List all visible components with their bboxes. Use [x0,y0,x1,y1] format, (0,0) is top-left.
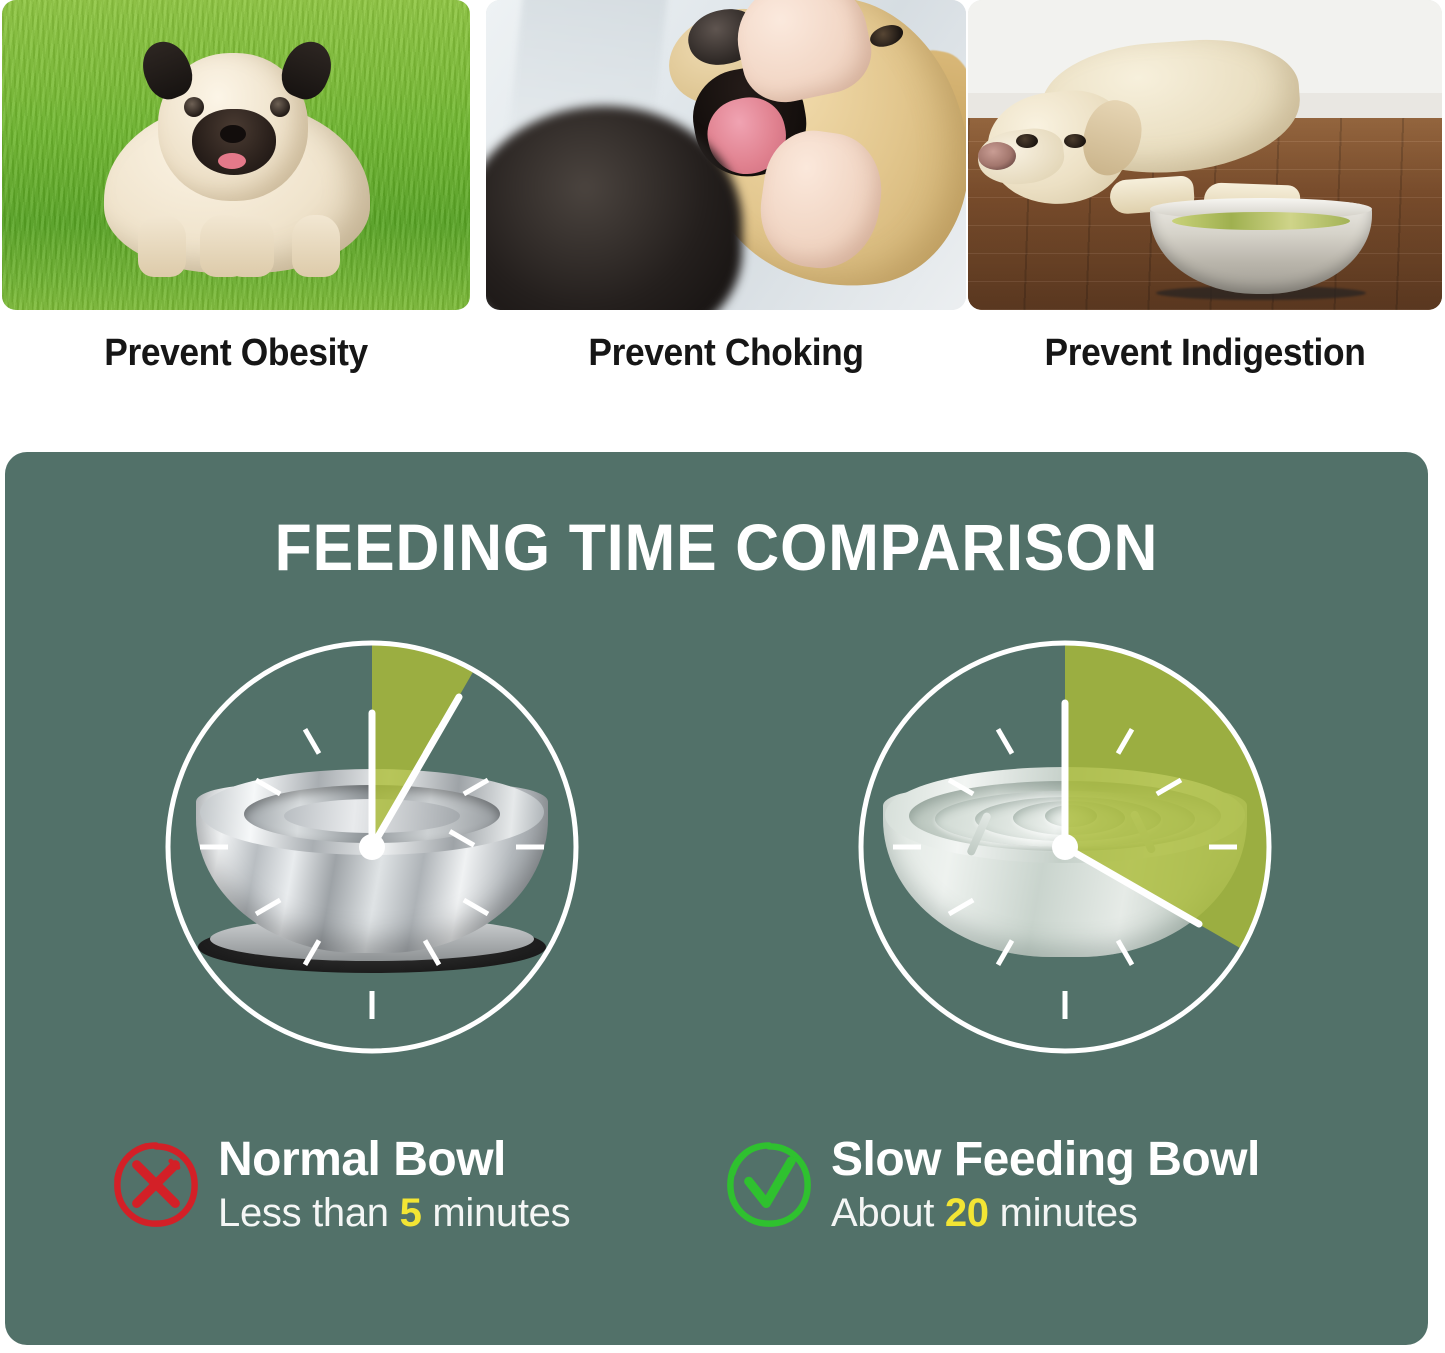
benefit-card-prevent-indigestion: Prevent Indigestion [968,0,1442,415]
labrador-lying-next-to-bowl-photo [968,0,1442,310]
result-text: Normal Bowl Less than 5 minutes [218,1134,570,1236]
overweight-pug-on-grass-photo [2,0,470,310]
result-normal-bowl: Normal Bowl Less than 5 minutes [110,1134,570,1236]
clock-gauge-slow-feeding-bowl [830,637,1300,1077]
pug-tongue [218,153,246,169]
results-row: Normal Bowl Less than 5 minutes Slow Fee… [5,1134,1428,1284]
clock-center-dot [1052,834,1078,860]
clock-dial [162,637,582,1057]
result-sub-value: 5 [400,1191,422,1235]
benefit-card-prevent-choking: Prevent Choking [486,0,966,415]
steel-bowl-with-food [1150,202,1372,294]
result-sub-suffix: minutes [989,1191,1138,1235]
cross-circle-icon [110,1139,202,1231]
result-title: Normal Bowl [218,1136,570,1185]
clock-gauge-svg [855,637,1275,1057]
clock-dial [855,637,1275,1057]
pug-eye [270,97,290,117]
benefit-caption: Prevent Choking [503,332,949,375]
benefit-caption: Prevent Obesity [18,332,453,375]
pug-leg [292,215,340,277]
result-slow-feeding-bowl: Slow Feeding Bowl About 20 minutes [723,1134,1260,1236]
page-title: FEEDING TIME COMPARISON [62,509,1371,585]
labrador-nose [978,142,1016,170]
result-subtitle: About 20 minutes [831,1191,1260,1236]
result-sub-suffix: minutes [422,1191,571,1235]
pug-eye [184,97,204,117]
benefits-row: Prevent Obesity Preve [0,0,1445,420]
result-sub-value: 20 [945,1191,989,1235]
pug-dog-illustration [86,35,386,285]
feeding-time-comparison-panel: FEEDING TIME COMPARISON [5,452,1428,1345]
clock-gauge-svg [162,637,582,1057]
product-infographic: Prevent Obesity Preve [0,0,1445,1353]
labrador-eye [1016,134,1038,148]
benefit-card-prevent-obesity: Prevent Obesity [2,0,470,415]
dog-eye [867,21,906,51]
pug-leg [226,215,274,277]
labrador-eye [1064,134,1086,148]
result-sub-prefix: Less than [218,1191,400,1235]
vet-checking-dog-mouth-photo [486,0,966,310]
result-text: Slow Feeding Bowl About 20 minutes [831,1134,1260,1236]
clock-gauge-normal-bowl [137,637,607,1077]
result-title: Slow Feeding Bowl [831,1136,1260,1185]
check-circle-icon [723,1139,815,1231]
bowl-food [1172,212,1350,230]
clock-gauges-row [5,637,1428,1097]
clock-center-dot [359,834,385,860]
benefit-caption: Prevent Indigestion [985,332,1426,375]
result-subtitle: Less than 5 minutes [218,1191,570,1236]
pug-leg [138,215,186,277]
result-sub-prefix: About [831,1191,945,1235]
pug-nose [220,125,246,143]
